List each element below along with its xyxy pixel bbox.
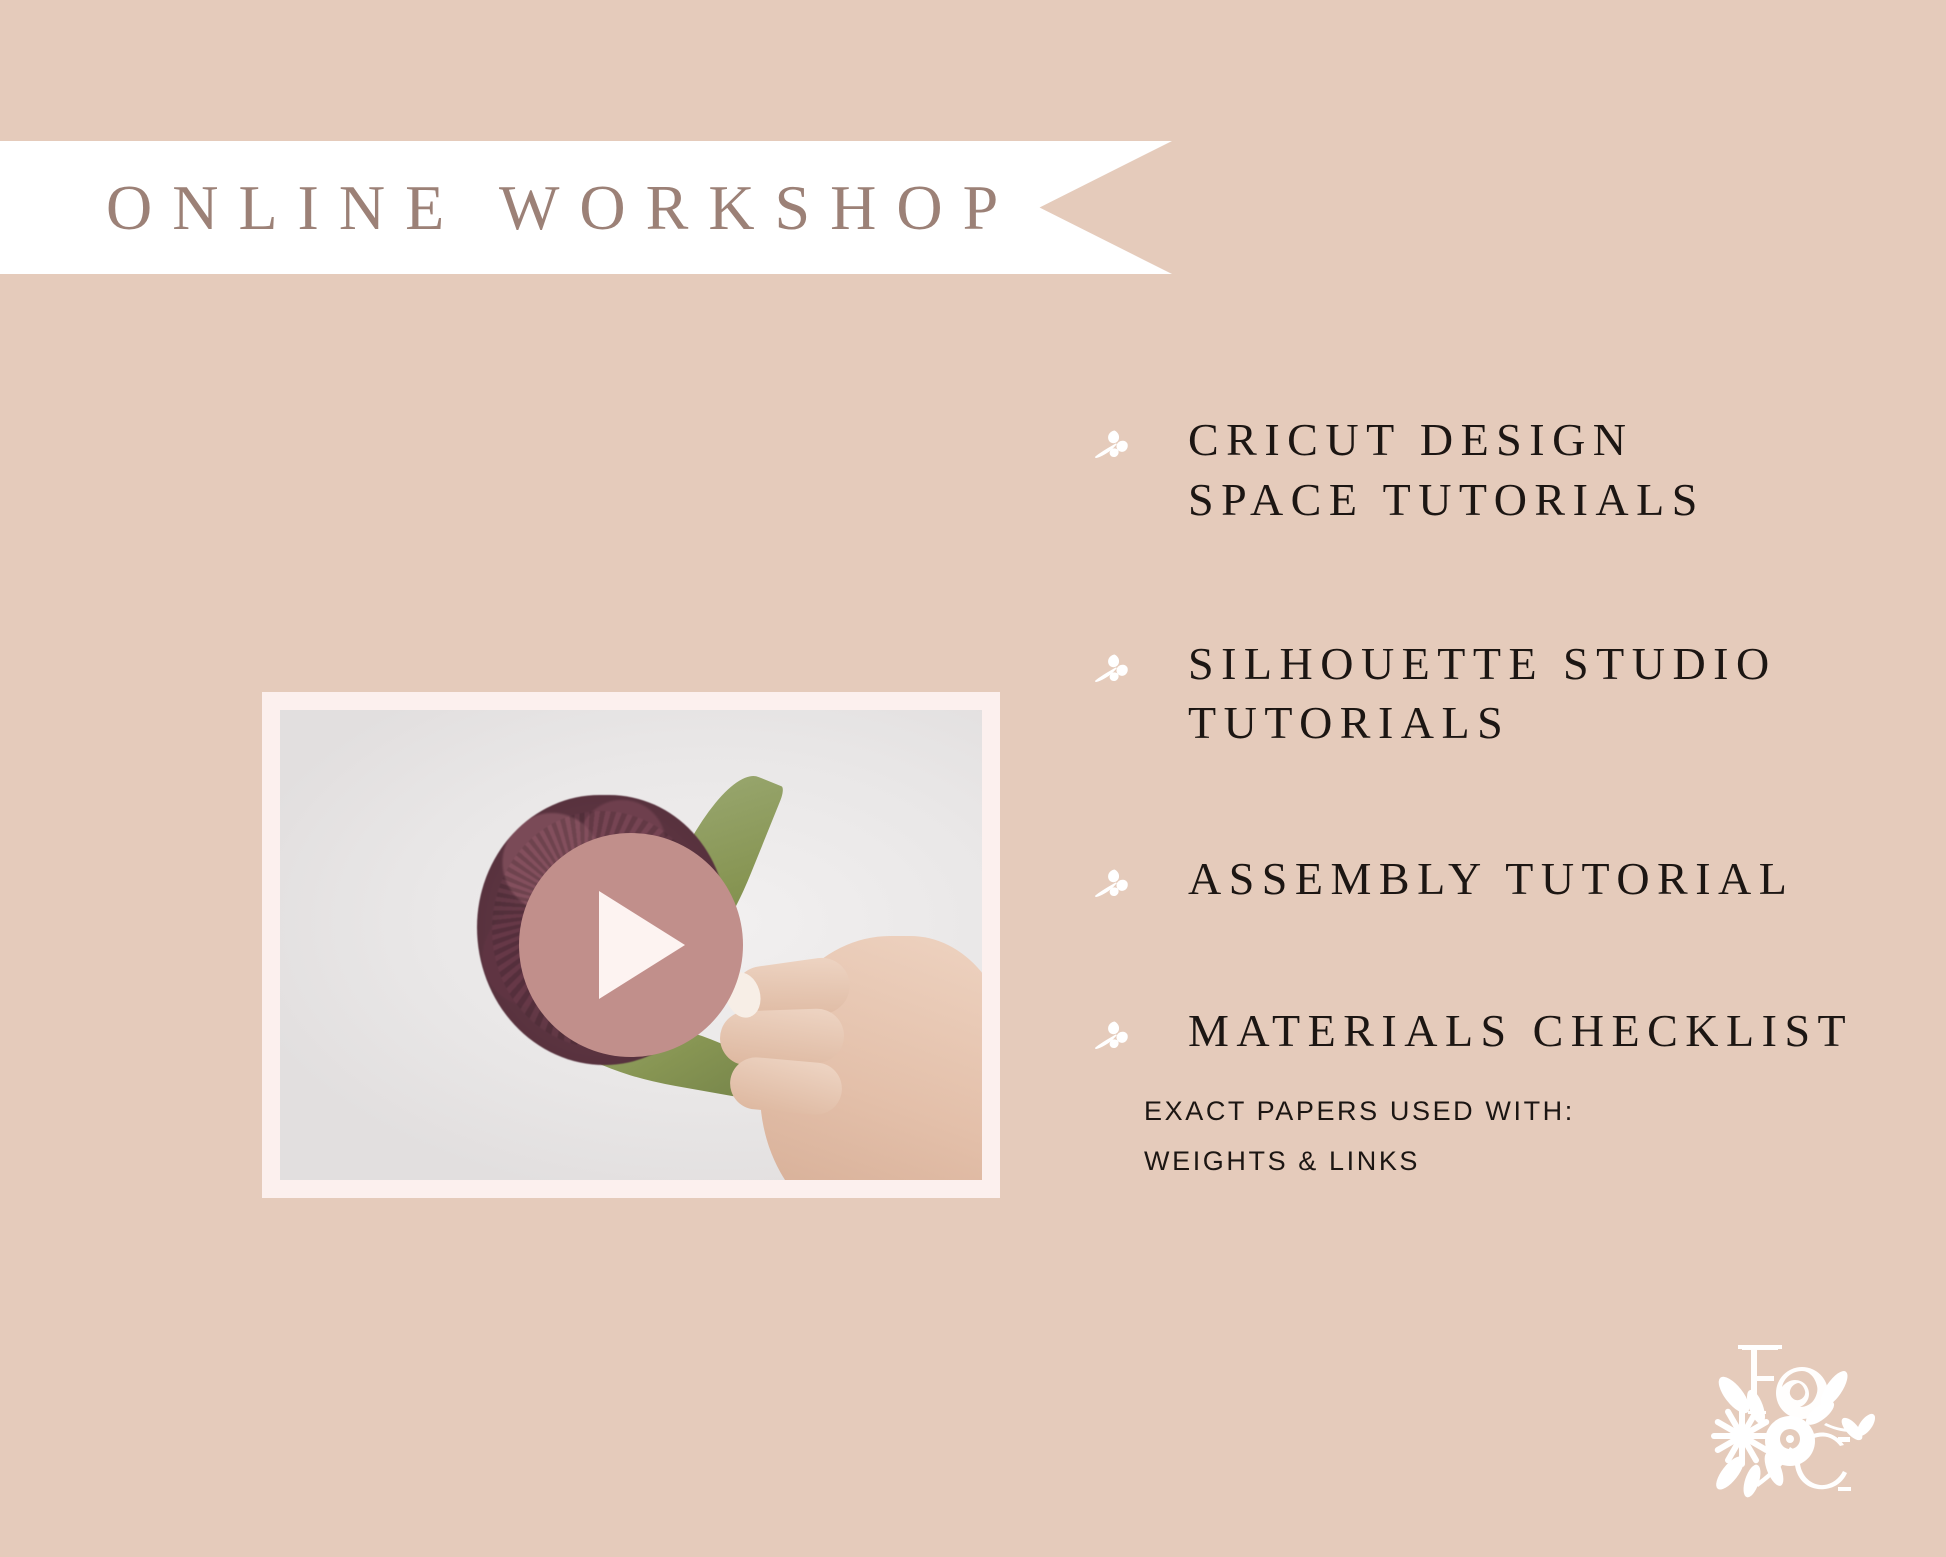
sprout-leaf-icon bbox=[1090, 650, 1134, 694]
play-button[interactable] bbox=[519, 833, 743, 1057]
finger bbox=[728, 1055, 844, 1117]
list-item: SILHOUETTE STUDIO TUTORIALS bbox=[1090, 634, 1930, 754]
list-item: ASSEMBLY TUTORIAL bbox=[1090, 849, 1930, 909]
list-item-label: ASSEMBLY TUTORIAL bbox=[1188, 849, 1794, 909]
play-triangle-icon bbox=[599, 891, 685, 999]
page-title: ONLINE WORKSHOP bbox=[106, 176, 1018, 240]
workshop-slide: ONLINE WORKSHOP bbox=[0, 0, 1946, 1557]
banner-ribbon: ONLINE WORKSHOP bbox=[0, 141, 1172, 274]
list-item: MATERIALS CHECKLIST bbox=[1090, 1001, 1930, 1061]
sprout-leaf-icon bbox=[1090, 426, 1134, 470]
video-card[interactable] bbox=[262, 692, 1000, 1198]
list-item-label: SILHOUETTE STUDIO TUTORIALS bbox=[1188, 634, 1777, 754]
hand-holding-flower bbox=[760, 936, 982, 1180]
video-thumbnail[interactable] bbox=[280, 710, 982, 1180]
list-item-label: MATERIALS CHECKLIST bbox=[1188, 1001, 1853, 1061]
list-item: CRICUT DESIGN SPACE TUTORIALS bbox=[1090, 410, 1930, 530]
list-item-label: CRICUT DESIGN SPACE TUTORIALS bbox=[1188, 410, 1705, 530]
feature-list: CRICUT DESIGN SPACE TUTORIALS SILHOUETTE… bbox=[1090, 410, 1930, 1187]
materials-subnote: EXACT PAPERS USED WITH: WEIGHTS & LINKS bbox=[1144, 1087, 1930, 1187]
brand-logo bbox=[1686, 1333, 1902, 1513]
finger bbox=[719, 1007, 845, 1065]
sprout-leaf-icon bbox=[1090, 865, 1134, 909]
sprout-leaf-icon bbox=[1090, 1017, 1134, 1061]
